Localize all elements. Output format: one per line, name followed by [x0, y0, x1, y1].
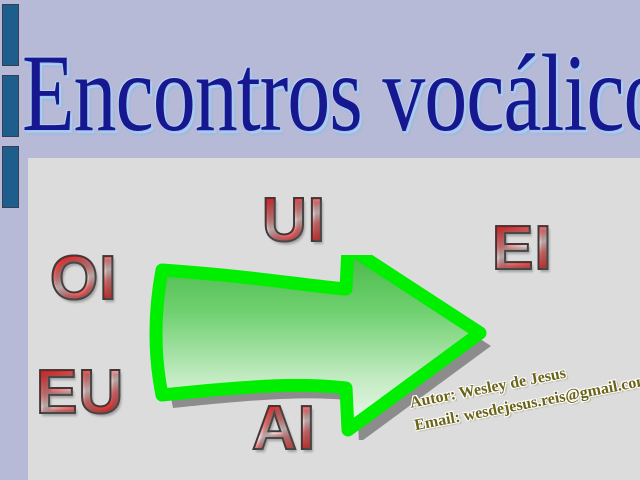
decorative-block-2 [2, 75, 19, 137]
decorative-block-3 [2, 146, 19, 208]
decorative-block-1 [2, 4, 19, 66]
vowel-pair-ai: AI [252, 398, 316, 460]
vowel-pair-ei: EI [492, 218, 553, 280]
presentation-slide: Encontros vocálicos OI EU UI EI AI Autor… [0, 0, 640, 480]
vowel-pair-eu: EU [36, 362, 124, 424]
vowel-pair-ui: UI [262, 190, 326, 252]
slide-title: Encontros vocálicos [22, 38, 622, 148]
vowel-pair-oi: OI [50, 248, 117, 310]
